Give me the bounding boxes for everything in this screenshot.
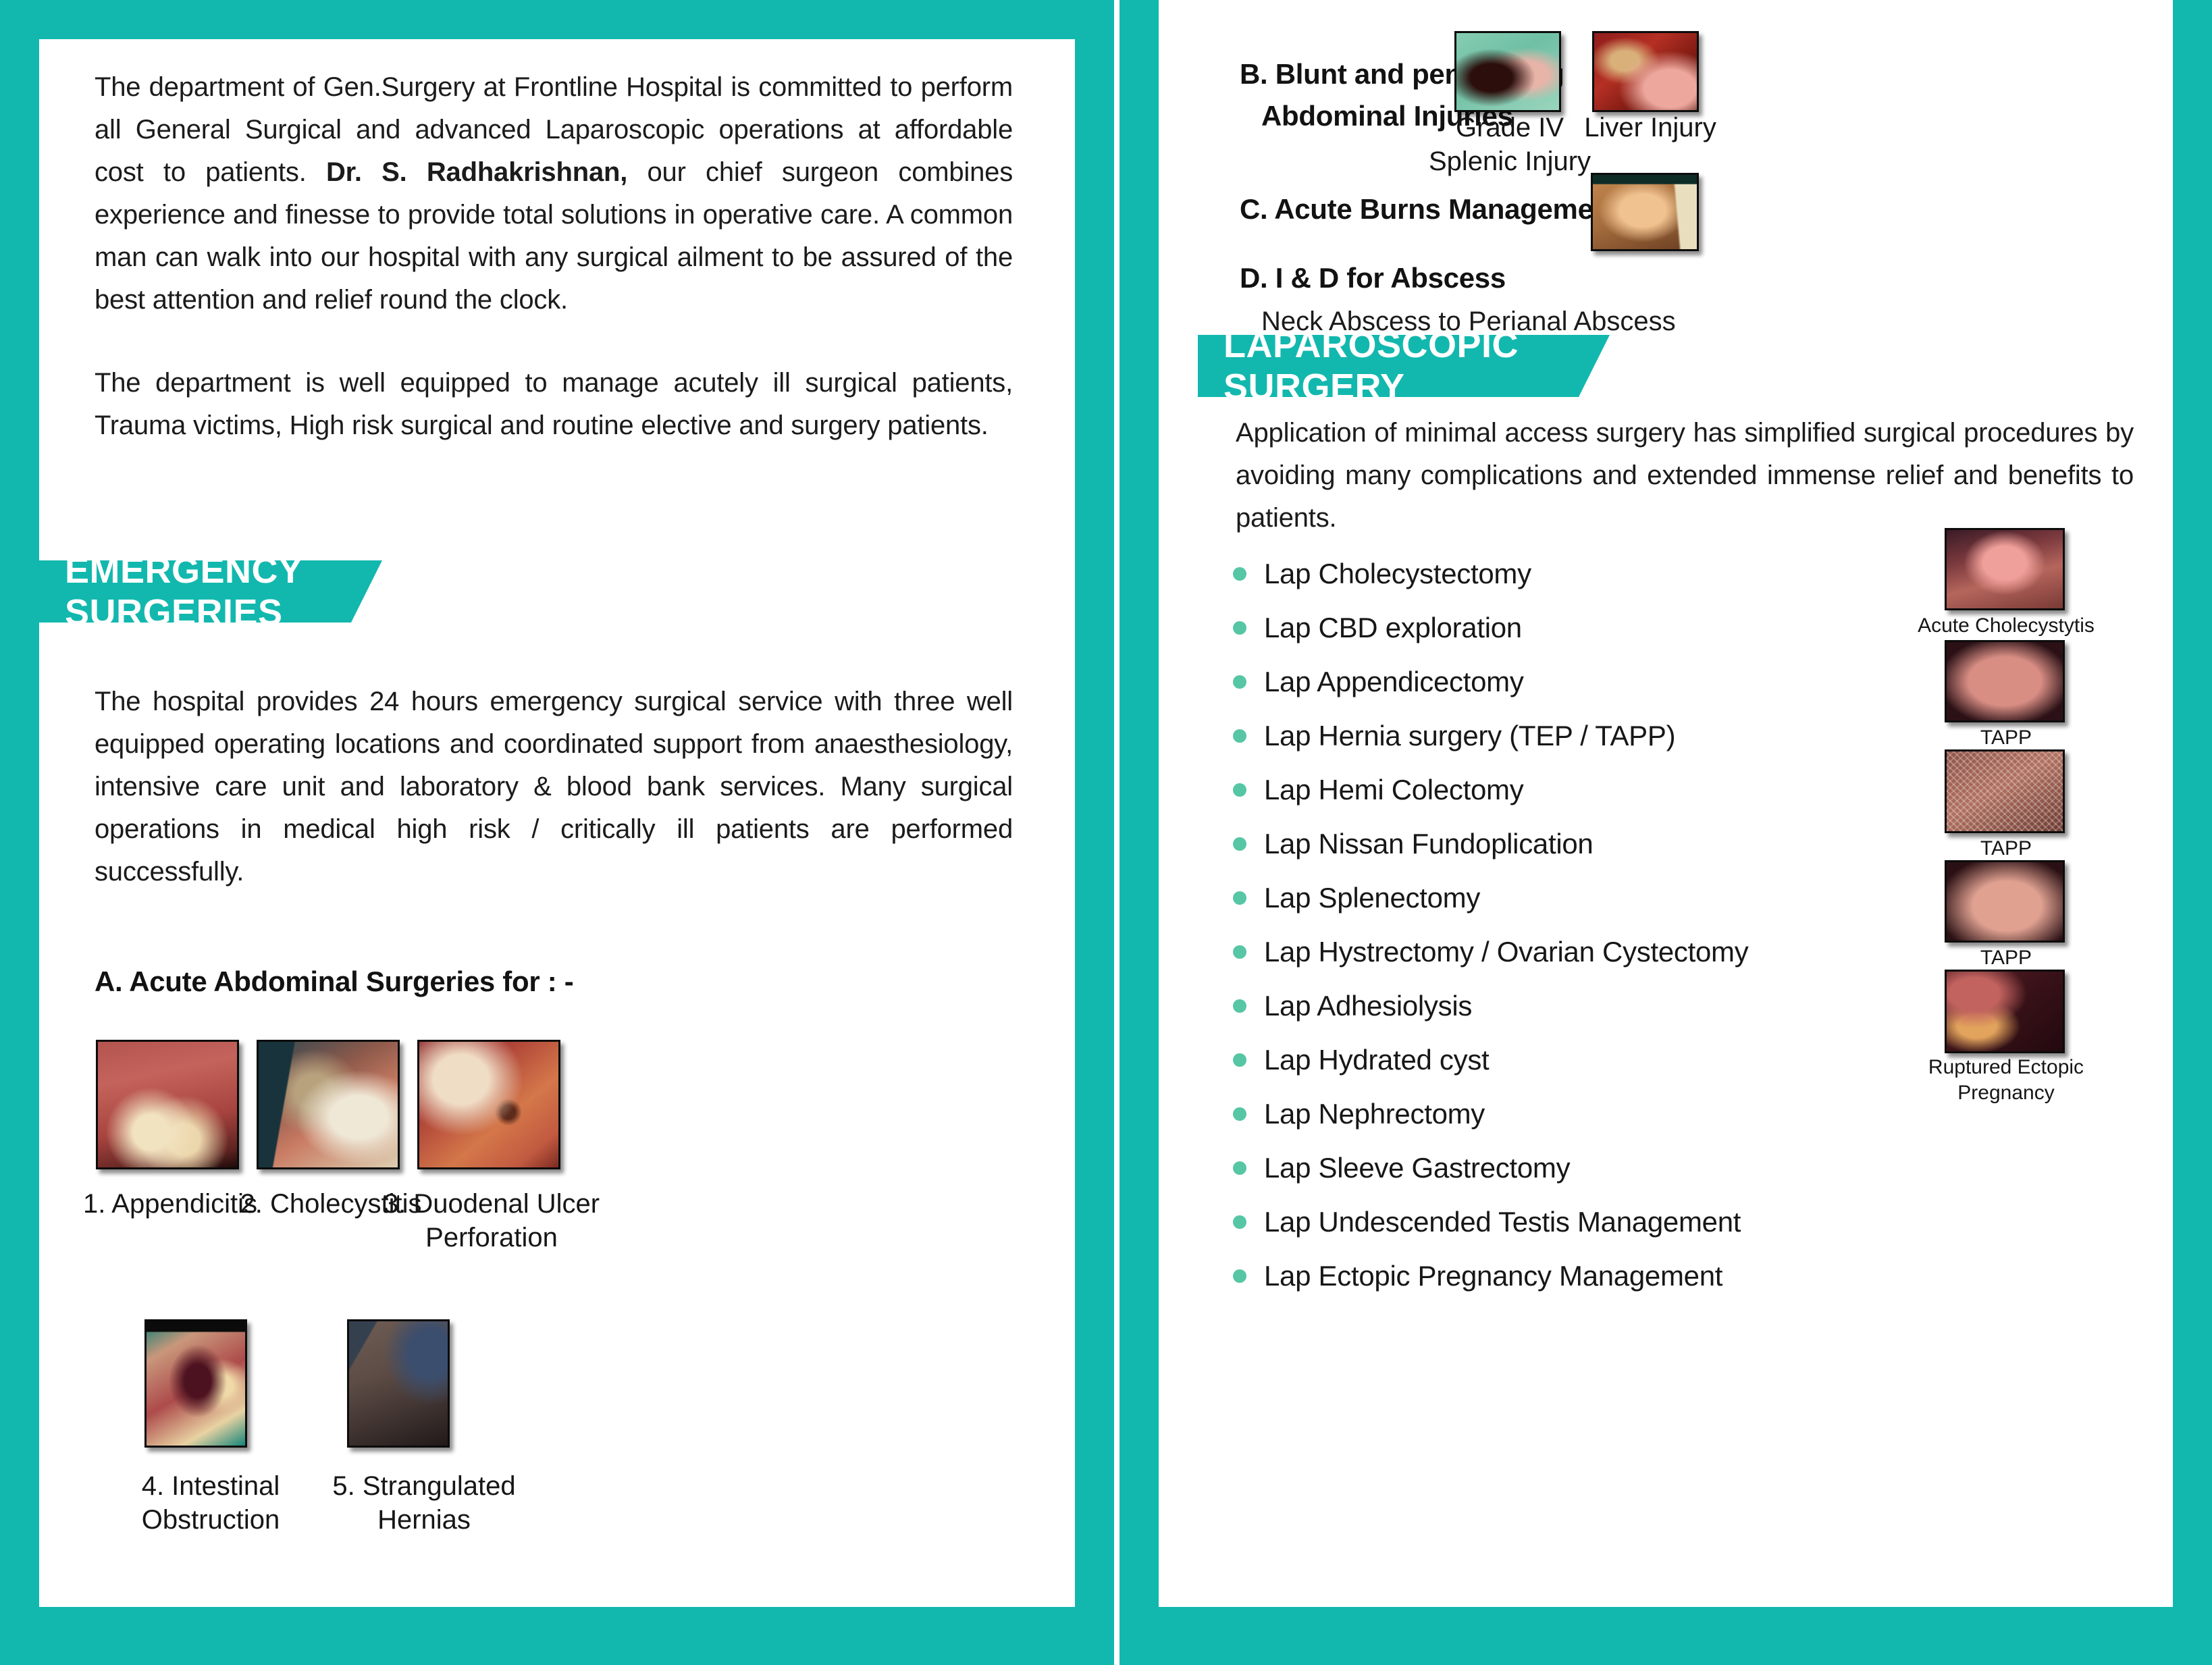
- procedure-label: Lap Nissan Fundoplication: [1264, 828, 1593, 860]
- tapp-thumb-3: [1945, 860, 2065, 943]
- chief-surgeon-name: Dr. S. Radhakrishnan,: [326, 157, 627, 187]
- ruptured-ectopic-pregnancy-thumb: [1945, 970, 2065, 1053]
- procedure-label: Lap Splenectomy: [1264, 882, 1480, 914]
- procedure-label: Lap CBD exploration: [1264, 612, 1522, 644]
- grade-iv-splenic-injury-photo: [1454, 31, 1561, 112]
- procedure-list-item: Lap Appendicectomy: [1233, 655, 1748, 709]
- bullet-dot-icon: [1233, 945, 1246, 959]
- strangulated-hernia-photo: [347, 1319, 450, 1448]
- bullet-dot-icon: [1233, 1269, 1246, 1283]
- caption-grade-iv-line1: Grade IV: [1436, 111, 1584, 144]
- procedure-label: Lap Undescended Testis Management: [1264, 1206, 1741, 1238]
- intro-paragraph-2: The department is well equipped to manag…: [95, 362, 1013, 447]
- procedure-label: Lap Appendicectomy: [1264, 666, 1524, 698]
- procedure-list-item: Lap Splenectomy: [1233, 871, 1748, 925]
- procedure-label: Lap Nephrectomy: [1264, 1098, 1485, 1130]
- procedure-label: Lap Cholecystectomy: [1264, 558, 1531, 590]
- section-a-heading: A. Acute Abdominal Surgeries for : -: [95, 963, 574, 1001]
- procedure-label: Lap Hystrectomy / Ovarian Cystectomy: [1264, 936, 1748, 968]
- bullet-dot-icon: [1233, 729, 1246, 743]
- section-c-heading: C. Acute Burns Management: [1240, 190, 1620, 228]
- procedure-list-item: Lap Nissan Fundoplication: [1233, 817, 1748, 871]
- caption-tapp-1: TAPP: [1928, 725, 2084, 751]
- emergency-surgeries-banner-label: EMERGENCY SURGERIES: [39, 550, 382, 633]
- neck-abscess-photo: [1591, 173, 1699, 251]
- procedure-label: Lap Hernia surgery (TEP / TAPP): [1264, 720, 1675, 752]
- caption-grade-iv-line2: Splenic Injury: [1422, 144, 1598, 178]
- procedure-list-item: Lap Hydrated cyst: [1233, 1033, 1748, 1087]
- procedure-label: Lap Sleeve Gastrectomy: [1264, 1152, 1570, 1184]
- bullet-dot-icon: [1233, 837, 1246, 851]
- intro-paragraph-1: The department of Gen.Surgery at Frontli…: [95, 66, 1013, 321]
- bullet-dot-icon: [1233, 675, 1246, 689]
- tapp-thumb-1: [1945, 640, 2065, 722]
- caption-duodenal-ulcer-line1: 3. Duodenal Ulcer: [377, 1187, 606, 1221]
- procedure-list-item: Lap Hystrectomy / Ovarian Cystectomy: [1233, 925, 1748, 979]
- intestinal-obstruction-photo: [144, 1319, 247, 1448]
- caption-strangulated-hernias: 5. Strangulated Hernias: [282, 1469, 566, 1537]
- caption-duodenal-ulcer-line2: Perforation: [377, 1221, 606, 1254]
- bullet-dot-icon: [1233, 1053, 1246, 1067]
- bullet-dot-icon: [1233, 1215, 1246, 1229]
- procedure-label: Lap Adhesiolysis: [1264, 990, 1472, 1022]
- bullet-dot-icon: [1233, 1161, 1246, 1175]
- procedure-list-item: Lap Hemi Colectomy: [1233, 763, 1748, 817]
- tapp-thumb-2: [1945, 749, 2065, 833]
- bullet-dot-icon: [1233, 783, 1246, 797]
- page-seam: [1114, 0, 1120, 1665]
- cholecystitis-photo: [257, 1040, 400, 1169]
- procedure-list-item: Lap Ectopic Pregnancy Management: [1233, 1249, 1748, 1303]
- laparoscopic-surgery-banner: LAPAROSCOPIC SURGERY: [1198, 335, 1610, 397]
- procedure-label: Lap Ectopic Pregnancy Management: [1264, 1260, 1722, 1292]
- emergency-paragraph: The hospital provides 24 hours emergency…: [95, 681, 1013, 893]
- procedure-list-item: Lap CBD exploration: [1233, 601, 1748, 655]
- left-content-sheet: The department of Gen.Surgery at Frontli…: [39, 39, 1075, 1607]
- procedure-list-item: Lap Cholecystectomy: [1233, 547, 1748, 601]
- liver-injury-photo: [1592, 31, 1699, 112]
- bullet-dot-icon: [1233, 621, 1246, 635]
- procedure-label: Lap Hemi Colectomy: [1264, 774, 1523, 806]
- emergency-surgeries-banner: EMERGENCY SURGERIES: [39, 560, 382, 623]
- bullet-dot-icon: [1233, 891, 1246, 905]
- procedure-list-item: Lap Nephrectomy: [1233, 1087, 1748, 1141]
- bullet-dot-icon: [1233, 567, 1246, 581]
- acute-cholecystytis-thumb: [1945, 528, 2065, 610]
- laparoscopic-procedures-list: Lap CholecystectomyLap CBD explorationLa…: [1233, 547, 1748, 1303]
- bullet-dot-icon: [1233, 1107, 1246, 1121]
- duodenal-ulcer-photo: [417, 1040, 560, 1169]
- procedure-list-item: Lap Adhesiolysis: [1233, 979, 1748, 1033]
- caption-tapp-3: TAPP: [1928, 945, 2084, 971]
- procedure-list-item: Lap Hernia surgery (TEP / TAPP): [1233, 709, 1748, 763]
- procedure-label: Lap Hydrated cyst: [1264, 1044, 1489, 1076]
- caption-ruptured-ectopic-pregnancy: Ruptured Ectopic Pregnancy: [1880, 1055, 2132, 1106]
- procedure-list-item: Lap Sleeve Gastrectomy: [1233, 1141, 1748, 1195]
- laparoscopic-surgery-banner-label: LAPAROSCOPIC SURGERY: [1198, 324, 1610, 408]
- caption-acute-cholecystytis: Acute Cholecystytis: [1901, 613, 2111, 639]
- procedure-list-item: Lap Undescended Testis Management: [1233, 1195, 1748, 1249]
- appendicitis-photo: [96, 1040, 239, 1169]
- right-content-sheet: B. Blunt and penetrating Abdominal Injur…: [1159, 0, 2173, 1607]
- section-d-subtext: Neck Abscess to Perianal Abscess: [1261, 302, 1676, 340]
- bullet-dot-icon: [1233, 999, 1246, 1013]
- laparoscopic-paragraph: Application of minimal access surgery ha…: [1236, 412, 2134, 539]
- caption-liver-injury: Liver Injury: [1569, 111, 1731, 144]
- caption-tapp-2: TAPP: [1928, 836, 2084, 862]
- section-d-heading: D. I & D for Abscess: [1240, 259, 1506, 297]
